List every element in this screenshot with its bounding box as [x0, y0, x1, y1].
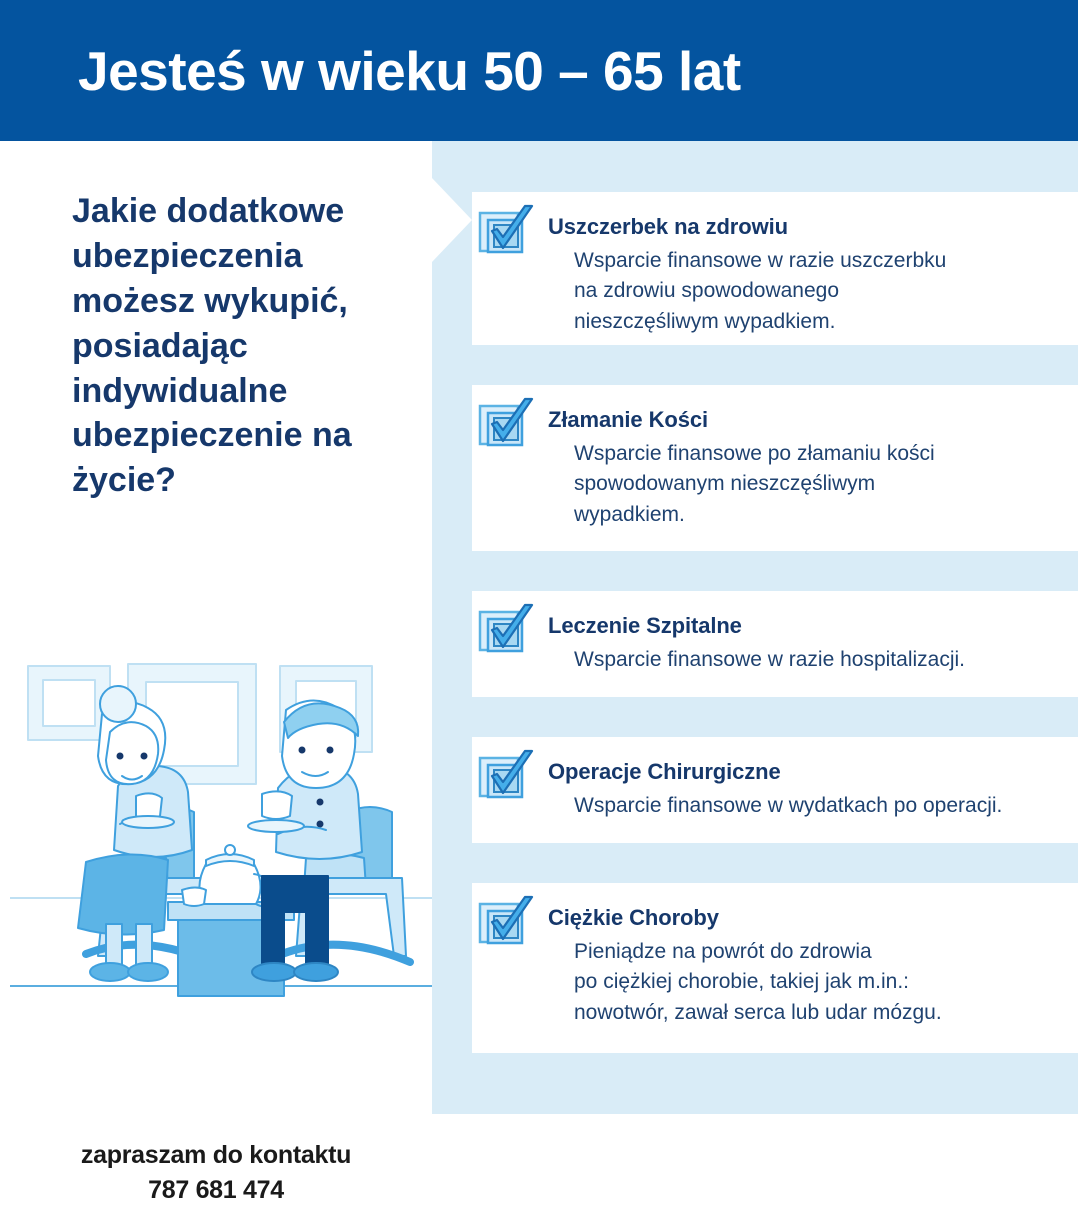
- benefit-description-line: Wsparcie finansowe w razie uszczerbku: [574, 246, 1062, 276]
- contact-invitation: zapraszam do kontaktu: [0, 1141, 432, 1170]
- benefit-description-line: nieszczęśliwym wypadkiem.: [574, 307, 1062, 337]
- benefit-description: Wsparcie finansowe po złamaniu kościspow…: [548, 439, 1062, 530]
- benefit-description: Wsparcie finansowe w razie uszczerbkuna …: [548, 246, 1062, 337]
- benefit-card-3[interactable]: Leczenie Szpitalne Wsparcie finansowe w …: [472, 591, 1078, 697]
- benefit-description-line: Pieniądze na powrót do zdrowia: [574, 937, 1062, 967]
- benefit-description-line: Wsparcie finansowe po złamaniu kości: [574, 439, 1062, 469]
- benefit-description: Pieniądze na powrót do zdrowiapo ciężkie…: [548, 937, 1062, 1028]
- checkbox-check-icon: [478, 603, 536, 661]
- benefit-card-4[interactable]: Operacje Chirurgiczne Wsparcie finansowe…: [472, 737, 1078, 843]
- benefit-title: Operacje Chirurgiczne: [548, 759, 1062, 785]
- benefit-description-line: Wsparcie finansowe w wydatkach po operac…: [574, 791, 1062, 821]
- header-banner: Jesteś w wieku 50 – 65 lat: [0, 0, 1078, 141]
- benefit-description: Wsparcie finansowe w razie hospitalizacj…: [548, 645, 1062, 675]
- benefit-description-line: nowotwór, zawał serca lub udar mózgu.: [574, 998, 1062, 1028]
- benefit-title: Ciężkie Choroby: [548, 905, 1062, 931]
- checkbox-check-icon: [478, 204, 536, 262]
- benefit-title: Złamanie Kości: [548, 407, 1062, 433]
- benefit-description-line: po ciężkiej chorobie, takiej jak m.in.:: [574, 967, 1062, 997]
- benefit-description-line: na zdrowiu spowodowanego: [574, 276, 1062, 306]
- left-panel: Jakie dodatkowe ubezpieczenia możesz wyk…: [0, 141, 432, 1114]
- chevron-right-icon: [432, 178, 472, 262]
- benefit-title: Leczenie Szpitalne: [548, 613, 1062, 639]
- left-question-heading: Jakie dodatkowe ubezpieczenia możesz wyk…: [72, 189, 417, 503]
- infographic-page: Jesteś w wieku 50 – 65 lat Jakie dodatko…: [0, 0, 1078, 1114]
- benefit-card-1[interactable]: Uszczerbek na zdrowiu Wsparcie finansowe…: [472, 192, 1078, 345]
- header-title: Jesteś w wieku 50 – 65 lat: [0, 39, 741, 103]
- benefit-card-5[interactable]: Ciężkie Choroby Pieniądze na powrót do z…: [472, 883, 1078, 1053]
- checkbox-check-icon: [478, 397, 536, 455]
- elderly-couple-illustration: [10, 646, 432, 1011]
- contact-block: zapraszam do kontaktu 787 681 474: [0, 1141, 432, 1205]
- benefit-description: Wsparcie finansowe w wydatkach po operac…: [548, 791, 1062, 821]
- benefit-description-line: Wsparcie finansowe w razie hospitalizacj…: [574, 645, 1062, 675]
- checkbox-check-icon: [478, 749, 536, 807]
- checkbox-check-icon: [478, 895, 536, 953]
- benefit-title: Uszczerbek na zdrowiu: [548, 214, 1062, 240]
- benefit-description-line: spowodowanym nieszczęśliwym: [574, 469, 1062, 499]
- benefit-card-2[interactable]: Złamanie Kości Wsparcie finansowe po zła…: [472, 385, 1078, 551]
- benefit-description-line: wypadkiem.: [574, 500, 1062, 530]
- contact-phone-number[interactable]: 787 681 474: [0, 1176, 432, 1205]
